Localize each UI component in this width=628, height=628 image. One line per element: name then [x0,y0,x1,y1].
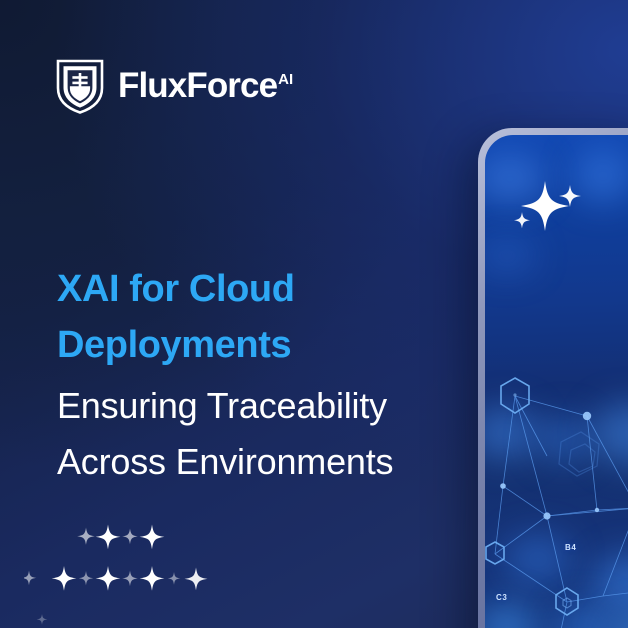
phone-screen: B4 C3 C2 [485,135,628,628]
subheadline-line-2: Across Environments [57,434,487,490]
headline: XAI for Cloud Deployments [57,262,487,374]
poster-canvas: FluxForceAI XAI for Cloud Deployments En… [0,0,628,628]
network-graph [485,358,628,628]
headline-line-1: XAI for Cloud [57,262,487,318]
node-label-c3: C3 [496,593,507,602]
subheadline-line-1: Ensuring Traceability [57,378,487,434]
subheadline: Ensuring Traceability Across Environment… [57,378,487,490]
brand-name-text: FluxForce [118,66,277,105]
brand-suffix: AI [278,71,293,88]
brand-logo[interactable]: FluxForceAI [55,57,293,114]
phone-mockup: B4 C3 C2 [478,128,628,628]
brand-name: FluxForceAI [118,68,293,103]
sparkle-icon [507,173,599,245]
node-label-b4: B4 [565,543,576,552]
headline-block: XAI for Cloud Deployments Ensuring Trace… [57,262,487,490]
sparkle-grid-decor [24,518,214,628]
headline-line-2: Deployments [57,318,487,374]
shield-icon [55,57,105,114]
